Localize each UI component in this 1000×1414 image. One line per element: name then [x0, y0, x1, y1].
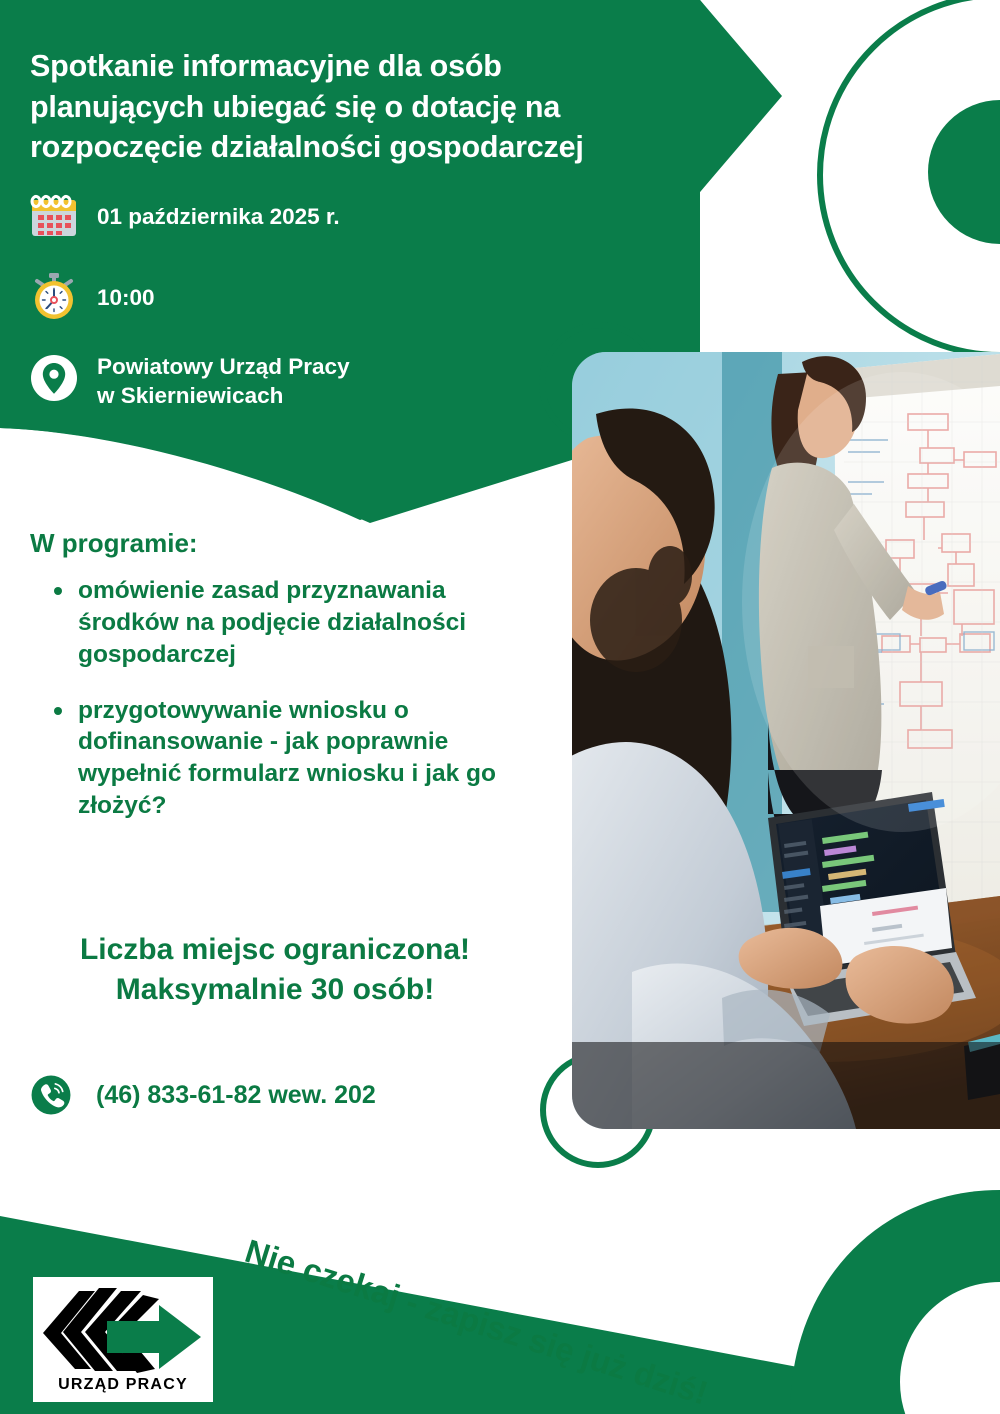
program-section: W programie: omówienie zasad przyznawani… [30, 528, 530, 846]
decor-dot-large [928, 100, 1000, 244]
phone-icon [28, 1072, 74, 1118]
contact-row: (46) 833-61-82 wew. 202 [28, 1072, 376, 1118]
cta-text: Nie czekaj - zapisz się już dziś! [241, 1232, 713, 1413]
meeting-photo [572, 352, 1000, 1129]
detail-text-date: 01 października 2025 r. [97, 190, 340, 232]
phone-number[interactable]: (46) 833-61-82 wew. 202 [96, 1081, 376, 1110]
location-pin-icon [28, 352, 80, 404]
detail-row-place: Powiatowy Urząd Pracy w Skierniewicach [28, 352, 350, 411]
footer-white-cut [900, 1282, 1000, 1414]
list-item: omówienie zasad przyznawania środków na … [52, 575, 530, 671]
list-item: przygotowywanie wniosku o dofinansowanie… [52, 695, 530, 822]
footer-green-corner [790, 1190, 1000, 1414]
page-title: Spotkanie informacyjne dla osób planując… [30, 46, 670, 167]
program-heading: W programie: [30, 528, 530, 559]
decor-ring-large [820, 0, 1000, 355]
urzad-pracy-logo: URZĄD PRACY [33, 1277, 213, 1402]
detail-text-place: Powiatowy Urząd Pracy w Skierniewicach [97, 352, 350, 411]
program-list: omówienie zasad przyznawania środków na … [30, 575, 530, 822]
detail-row-date: 01 października 2025 r. [28, 190, 340, 242]
detail-row-time: 10:00 [28, 270, 155, 322]
calendar-icon [28, 190, 80, 242]
logo-label: URZĄD PRACY [58, 1376, 188, 1393]
stopwatch-icon [28, 270, 80, 322]
limit-note: Liczba miejsc ograniczona! Maksymalnie 3… [40, 930, 510, 1010]
poster-root: Spotkanie informacyjne dla osób planując… [0, 0, 1000, 1414]
detail-text-time: 10:00 [97, 270, 155, 313]
